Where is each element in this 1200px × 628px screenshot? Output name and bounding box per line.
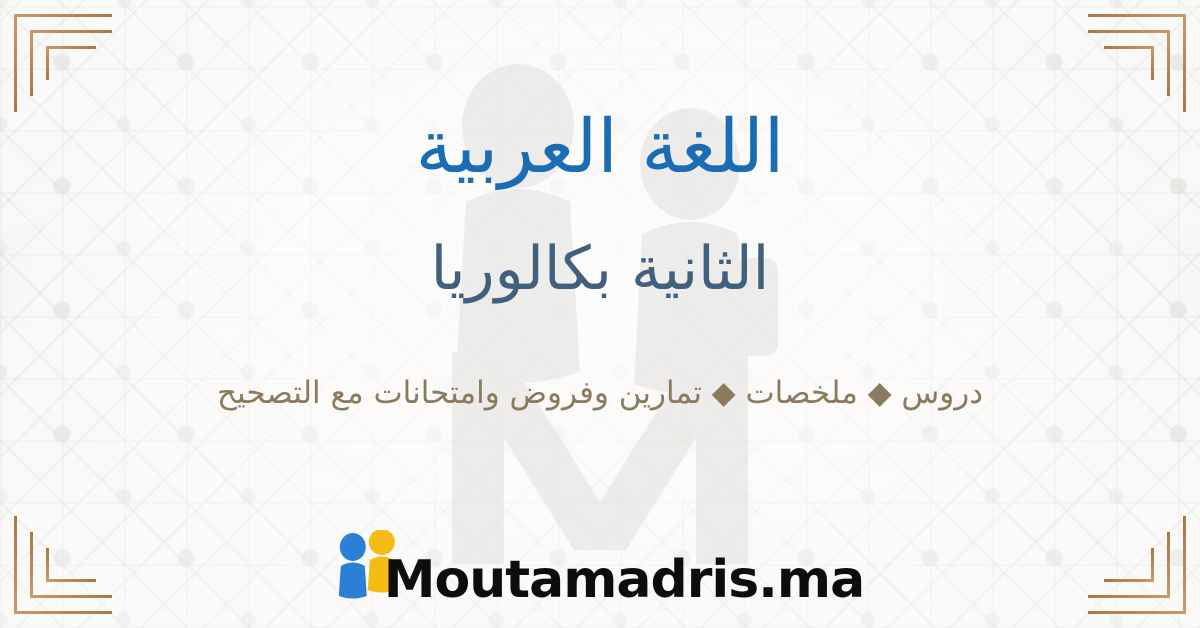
brand-name: Moutamadris.ma — [384, 554, 864, 606]
poster-canvas: اللغة العربية الثانية بكالوريا دروس ◆ مل… — [0, 0, 1200, 628]
subject-title: اللغة العربية — [416, 104, 785, 191]
grade-level-title: الثانية بكالوريا — [431, 233, 770, 305]
tagline: دروس ◆ ملخصات ◆ تمارين وفروض وامتحانات م… — [217, 375, 983, 411]
brand-logo: Moutamadris.ma — [336, 530, 864, 606]
